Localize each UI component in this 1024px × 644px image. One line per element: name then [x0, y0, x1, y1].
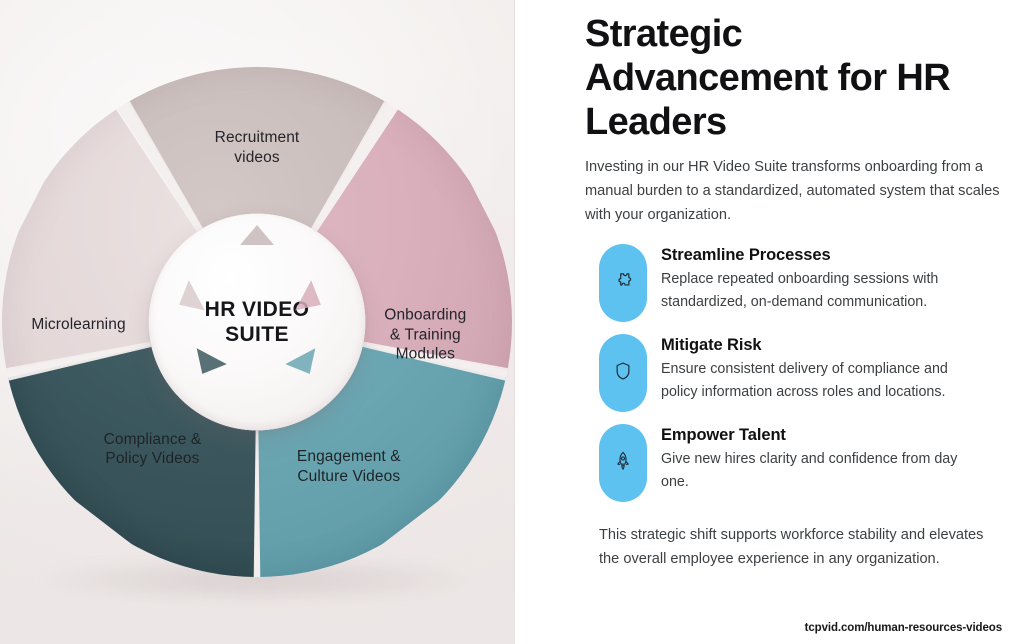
wheel-segment-label-microlearning: Microlearning: [31, 315, 125, 335]
hr-video-suite-wheel: HR VIDEO SUITE Recruitment videos Onboar…: [2, 67, 512, 577]
wheel-hub: HR VIDEO SUITE: [149, 214, 365, 430]
feature-item-mitigate-risk[interactable]: Mitigate Risk Ensure consistent delivery…: [599, 334, 1002, 412]
feature-description: Ensure consistent delivery of compliance…: [661, 358, 961, 404]
shield-icon: [612, 360, 634, 387]
feature-description: Replace repeated onboarding sessions wit…: [661, 268, 961, 314]
wheel-segment-label-compliance-policy-videos: Compliance & Policy Videos: [104, 430, 202, 470]
feature-text: Streamline Processes Replace repeated on…: [661, 244, 961, 314]
feature-text: Empower Talent Give new hires clarity an…: [661, 424, 961, 494]
wheel-segment-label-onboarding-training-modules: Onboarding & Training Modules: [384, 305, 466, 364]
wheel-segment-label-engagement-culture-videos: Engagement & Culture Videos: [297, 448, 401, 488]
rocket-icon: [612, 450, 634, 477]
wheel-hub-label: HR VIDEO SUITE: [205, 297, 310, 347]
footer-url[interactable]: tcpvid.com/human-resources-videos: [805, 622, 1002, 634]
wheel-diagram-panel: HR VIDEO SUITE Recruitment videos Onboar…: [0, 0, 515, 644]
triangle-arrow-up-icon: [240, 225, 274, 245]
feature-icon-badge: [599, 424, 647, 502]
wheel-segment-label-recruitment-videos: Recruitment videos: [215, 128, 300, 168]
content-panel: Strategic Advancement for HR Leaders Inv…: [515, 0, 1024, 644]
intro-paragraph: Investing in our HR Video Suite transfor…: [585, 156, 1002, 228]
feature-description: Give new hires clarity and confidence fr…: [661, 448, 961, 494]
feature-list: Streamline Processes Replace repeated on…: [585, 244, 1002, 502]
feature-item-empower-talent[interactable]: Empower Talent Give new hires clarity an…: [599, 424, 1002, 502]
feature-title: Empower Talent: [661, 426, 961, 446]
feature-text: Mitigate Risk Ensure consistent delivery…: [661, 334, 961, 404]
puzzle-piece-icon: [612, 270, 634, 297]
feature-icon-badge: [599, 244, 647, 322]
page-title: Strategic Advancement for HR Leaders: [585, 12, 985, 144]
feature-title: Streamline Processes: [661, 246, 961, 266]
infographic-page: HR VIDEO SUITE Recruitment videos Onboar…: [0, 0, 1024, 644]
closing-paragraph: This strategic shift supports workforce …: [585, 524, 999, 572]
feature-item-streamline-processes[interactable]: Streamline Processes Replace repeated on…: [599, 244, 1002, 322]
feature-title: Mitigate Risk: [661, 336, 961, 356]
feature-icon-badge: [599, 334, 647, 412]
